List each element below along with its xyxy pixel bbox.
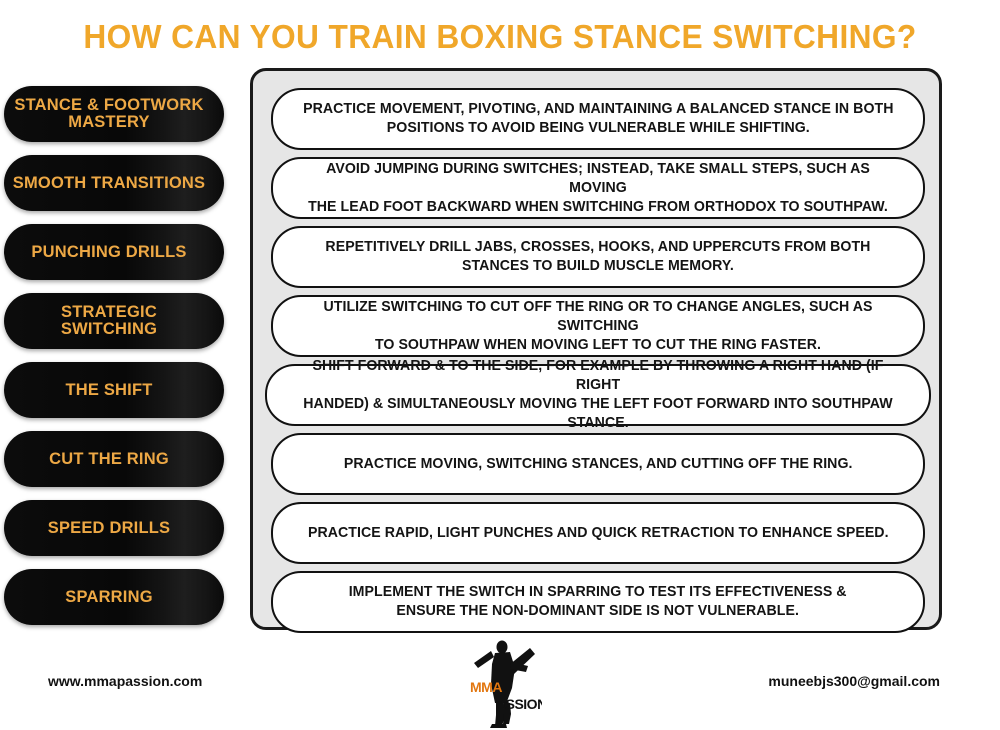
footer-website-link[interactable]: www.mmapassion.com: [48, 673, 202, 689]
content-card-strategic-switching[interactable]: UTILIZE SWITCHING TO CUT OFF THE RING OR…: [271, 295, 925, 357]
sidebar-item-cut-the-ring[interactable]: CUT THE RING: [4, 431, 224, 487]
content-card-text: PRACTICE MOVEMENT, PIVOTING, AND MAINTAI…: [303, 100, 893, 138]
mma-passion-logo-icon: MMA ASSION: [462, 638, 542, 728]
page-title: HOW CAN YOU TRAIN BOXING STANCE SWITCHIN…: [20, 18, 980, 56]
sidebar-item-label: SMOOTH TRANSITIONS: [13, 175, 205, 192]
content-card-text: REPETITIVELY DRILL JABS, CROSSES, HOOKS,…: [325, 238, 870, 276]
sidebar-item-label: STANCE & FOOTWORK MASTERY: [14, 97, 203, 131]
sidebar-item-the-shift[interactable]: THE SHIFT: [4, 362, 224, 418]
content-panel: PRACTICE MOVEMENT, PIVOTING, AND MAINTAI…: [250, 68, 942, 630]
footer-email-address[interactable]: muneebjs300@gmail.com: [768, 673, 940, 689]
sidebar-item-label: STRATEGIC SWITCHING: [61, 304, 157, 338]
content-card-text: AVOID JUMPING DURING SWITCHES; INSTEAD, …: [296, 160, 899, 217]
logo-text-assion: ASSION: [496, 696, 542, 712]
logo-text-mma: MMA: [470, 679, 502, 695]
content-card-stance-footwork-mastery[interactable]: PRACTICE MOVEMENT, PIVOTING, AND MAINTAI…: [271, 88, 925, 150]
content-card-text: PRACTICE MOVING, SWITCHING STANCES, AND …: [344, 455, 853, 474]
sidebar-item-label: SPARRING: [65, 589, 152, 606]
sidebar-item-sparring[interactable]: SPARRING: [4, 569, 224, 625]
content-card-smooth-transitions[interactable]: AVOID JUMPING DURING SWITCHES; INSTEAD, …: [271, 157, 925, 219]
content-card-speed-drills[interactable]: PRACTICE RAPID, LIGHT PUNCHES AND QUICK …: [271, 502, 925, 564]
sidebar-item-label: THE SHIFT: [65, 382, 152, 399]
footer: www.mmapassion.com MMA ASSION muneebjs30…: [0, 638, 1000, 730]
content-card-punching-drills[interactable]: REPETITIVELY DRILL JABS, CROSSES, HOOKS,…: [271, 226, 925, 288]
sidebar-item-label: PUNCHING DRILLS: [31, 244, 186, 261]
sidebar-item-label: CUT THE RING: [49, 451, 169, 468]
content-card-text: IMPLEMENT THE SWITCH IN SPARRING TO TEST…: [349, 583, 847, 621]
content-card-text: SHIFT FORWARD & TO THE SIDE, FOR EXAMPLE…: [291, 357, 906, 433]
content-card-cut-the-ring[interactable]: PRACTICE MOVING, SWITCHING STANCES, AND …: [271, 433, 925, 495]
sidebar-item-smooth-transitions[interactable]: SMOOTH TRANSITIONS: [4, 155, 224, 211]
content-card-text: PRACTICE RAPID, LIGHT PUNCHES AND QUICK …: [308, 524, 889, 543]
content-card-sparring[interactable]: IMPLEMENT THE SWITCH IN SPARRING TO TEST…: [271, 571, 925, 633]
content-card-text: UTILIZE SWITCHING TO CUT OFF THE RING OR…: [296, 298, 899, 355]
content-card-the-shift[interactable]: SHIFT FORWARD & TO THE SIDE, FOR EXAMPLE…: [265, 364, 931, 426]
sidebar-item-speed-drills[interactable]: SPEED DRILLS: [4, 500, 224, 556]
sidebar-item-strategic-switching[interactable]: STRATEGIC SWITCHING: [4, 293, 224, 349]
sidebar-item-punching-drills[interactable]: PUNCHING DRILLS: [4, 224, 224, 280]
sidebar-item-stance-footwork-mastery[interactable]: STANCE & FOOTWORK MASTERY: [4, 86, 224, 142]
sidebar: STANCE & FOOTWORK MASTERY SMOOTH TRANSIT…: [0, 86, 232, 628]
sidebar-item-label: SPEED DRILLS: [48, 520, 171, 537]
